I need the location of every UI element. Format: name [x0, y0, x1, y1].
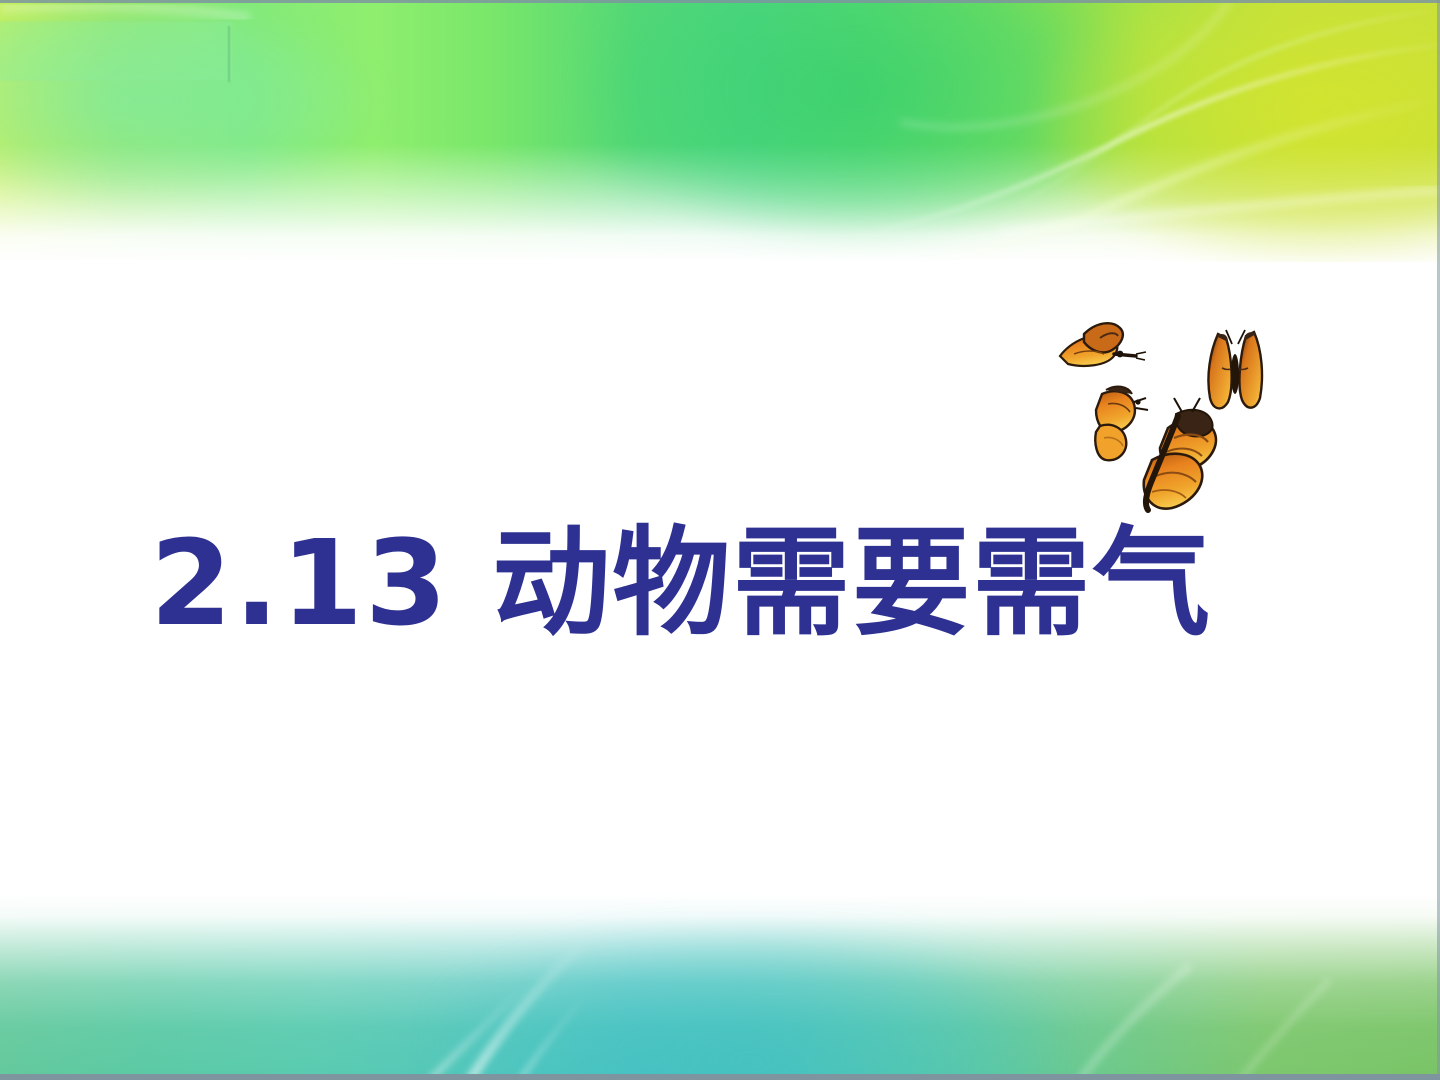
presentation-slide: 2.13 动物需要需气 — [0, 0, 1440, 1080]
butterfly-upper-right — [1208, 330, 1262, 408]
slide-title: 2.13 动物需要需气 — [0, 520, 1440, 647]
bottom-banner-light-streaks — [0, 894, 1440, 1080]
bottom-decorative-banner — [0, 894, 1440, 1080]
butterfly-lower-right-large — [1144, 398, 1216, 510]
top-decorative-banner — [0, 0, 1440, 262]
butterfly-cluster-image — [1050, 310, 1280, 540]
top-banner-swoosh-curves — [0, 0, 1440, 262]
slide-bottom-border — [0, 1074, 1440, 1080]
butterfly-upper-left — [1060, 323, 1146, 366]
slide-top-border — [0, 0, 1440, 3]
butterfly-lower-left — [1095, 387, 1148, 461]
title-block: 2.13 动物需要需气 — [0, 520, 1440, 647]
